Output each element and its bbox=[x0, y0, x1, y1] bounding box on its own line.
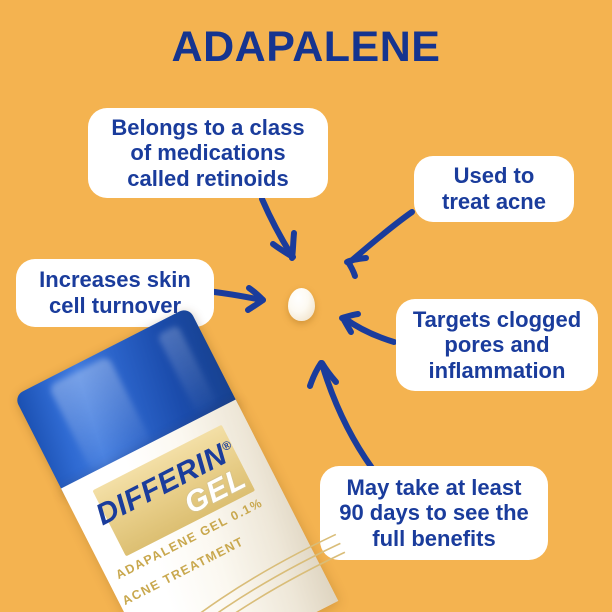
infographic-canvas: ADAPALENE bbox=[0, 0, 612, 612]
callout-90-days[interactable]: May take at least 90 days to see the ful… bbox=[320, 466, 548, 560]
callout-clogged-pores[interactable]: Targets clogged pores and inflammation bbox=[396, 299, 598, 391]
callout-treat-acne[interactable]: Used to treat acne bbox=[414, 156, 574, 222]
page-title: ADAPALENE bbox=[0, 24, 612, 71]
callout-retinoids[interactable]: Belongs to a class of medications called… bbox=[88, 108, 328, 198]
gel-dollop-icon bbox=[288, 288, 315, 321]
